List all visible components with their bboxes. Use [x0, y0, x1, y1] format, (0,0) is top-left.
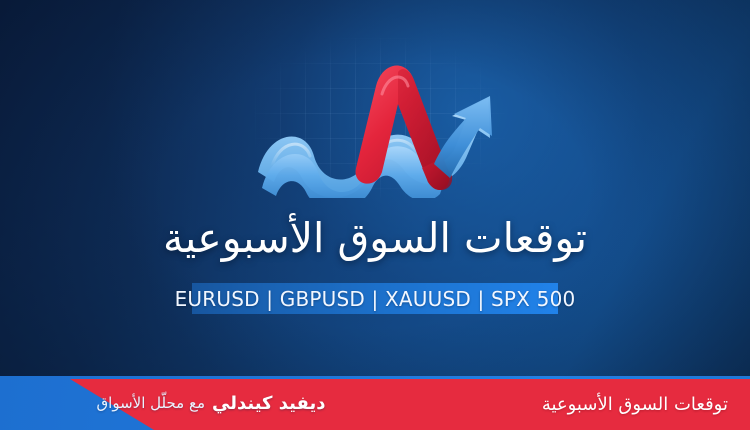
- presenter-name: ديفيد كيندلي: [212, 393, 326, 414]
- market-waves-arrow-logo-icon: [252, 46, 504, 198]
- page-title: توقعات السوق الأسبوعية: [0, 212, 750, 264]
- slide-canvas: توقعات السوق الأسبوعية EURUSD | GBPUSD |…: [0, 0, 750, 430]
- footer-right-label: توقعات السوق الأسبوعية: [542, 394, 728, 415]
- presenter-block: ديفيد كيندلي مع محلّل الأسواق: [0, 376, 440, 430]
- ticker-badge: EURUSD | GBPUSD | XAUUSD | SPX 500: [192, 283, 558, 314]
- footer-bar: ديفيد كيندلي مع محلّل الأسواق توقعات الس…: [0, 376, 750, 430]
- footer-right-label-wrap: توقعات السوق الأسبوعية: [542, 379, 728, 430]
- presenter-role: مع محلّل الأسواق: [97, 394, 205, 412]
- ticker-badge-label: EURUSD | GBPUSD | XAUUSD | SPX 500: [175, 288, 576, 310]
